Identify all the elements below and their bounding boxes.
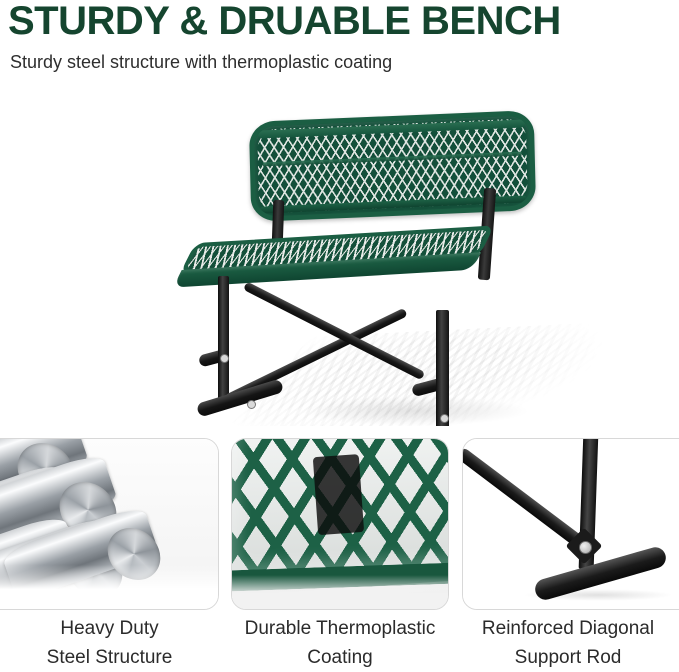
caption-line: Durable Thermoplastic — [228, 614, 452, 643]
photo-floor-fade — [0, 565, 218, 609]
feature-card-steel-structure — [0, 438, 219, 610]
feature-card-support-rod — [462, 438, 679, 610]
page-subtitle: Sturdy steel structure with thermoplasti… — [10, 50, 392, 74]
caption-steel-structure: Heavy Duty Steel Structure — [0, 614, 219, 672]
bench-leg-right — [436, 310, 449, 426]
caption-support-rod: Reinforced Diagonal Support Rod — [457, 614, 679, 672]
caption-line: Support Rod — [457, 643, 679, 672]
coated-edge-frame — [231, 438, 449, 592]
feature-card-thermoplastic-coating — [231, 438, 449, 610]
diagonal-support-rod-photo — [463, 439, 679, 609]
caption-line: Heavy Duty — [0, 614, 219, 643]
feature-cards — [0, 438, 679, 610]
hero-product-image — [0, 96, 679, 426]
diagonal-rod — [462, 446, 591, 553]
thermoplastic-mesh-closeup-photo — [232, 439, 448, 609]
photo-floor-fade — [232, 575, 448, 609]
caption-line: Steel Structure — [0, 643, 219, 672]
bench-ground-shadow — [300, 396, 530, 426]
bolt-icon — [220, 354, 229, 363]
page-title: STURDY & DRUABLE BENCH — [8, 0, 561, 44]
steel-rods-photo — [0, 439, 218, 609]
bolt-icon — [440, 414, 449, 423]
caption-thermoplastic-coating: Durable Thermoplastic Coating — [228, 614, 452, 672]
bench-leg-left — [218, 276, 229, 401]
caption-line: Coating — [228, 643, 452, 672]
photo-floor-fade — [523, 589, 673, 601]
bolt-icon — [579, 541, 592, 554]
bolt-icon — [247, 400, 256, 409]
product-infographic: STURDY & DRUABLE BENCH Sturdy steel stru… — [0, 0, 679, 670]
caption-line: Reinforced Diagonal — [457, 614, 679, 643]
feature-captions: Heavy Duty Steel Structure Durable Therm… — [0, 614, 679, 670]
